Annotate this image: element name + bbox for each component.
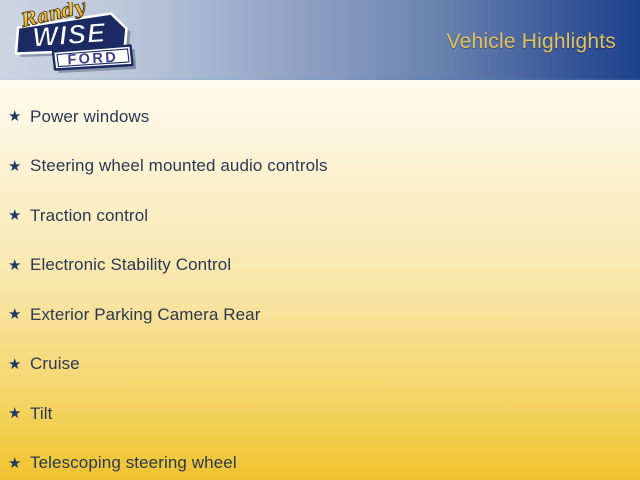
list-item[interactable]: ★ Tilt — [0, 389, 640, 439]
list-item[interactable]: ★ Cruise — [0, 340, 640, 390]
header-divider — [0, 78, 640, 80]
star-bullet-icon: ★ — [8, 159, 30, 174]
star-bullet-icon: ★ — [8, 456, 30, 471]
list-item[interactable]: ★ Steering wheel mounted audio controls — [0, 142, 640, 192]
list-item-label: Traction control — [30, 206, 148, 226]
list-item-label: Power windows — [30, 107, 149, 127]
list-item-label: Cruise — [30, 354, 80, 374]
vehicle-highlights-list: ★ Power windows ★ Steering wheel mounted… — [0, 92, 640, 480]
list-item-label: Electronic Stability Control — [30, 255, 231, 275]
vehicle-highlights-slide: WISE FORD Randy Vehicle Highlights ★ Pow… — [0, 0, 640, 480]
star-bullet-icon: ★ — [8, 357, 30, 372]
list-item[interactable]: ★ Traction control — [0, 191, 640, 241]
star-bullet-icon: ★ — [8, 258, 30, 273]
list-item[interactable]: ★ Exterior Parking Camera Rear — [0, 290, 640, 340]
list-item-label: Tilt — [30, 404, 52, 424]
star-bullet-icon: ★ — [8, 109, 30, 124]
list-item[interactable]: ★ Telescoping steering wheel — [0, 439, 640, 480]
star-bullet-icon: ★ — [8, 208, 30, 223]
star-bullet-icon: ★ — [8, 307, 30, 322]
svg-text:FORD: FORD — [67, 50, 118, 69]
star-bullet-icon: ★ — [8, 406, 30, 421]
list-item-label: Telescoping steering wheel — [30, 453, 237, 473]
list-item[interactable]: ★ Power windows — [0, 92, 640, 142]
randy-wise-ford-logo[interactable]: WISE FORD Randy — [8, 2, 136, 76]
page-title: Vehicle Highlights — [447, 30, 616, 54]
list-item-label: Exterior Parking Camera Rear — [30, 305, 261, 325]
header-bar: WISE FORD Randy Vehicle Highlights — [0, 0, 640, 80]
list-item[interactable]: ★ Electronic Stability Control — [0, 241, 640, 291]
list-item-label: Steering wheel mounted audio controls — [30, 156, 328, 176]
